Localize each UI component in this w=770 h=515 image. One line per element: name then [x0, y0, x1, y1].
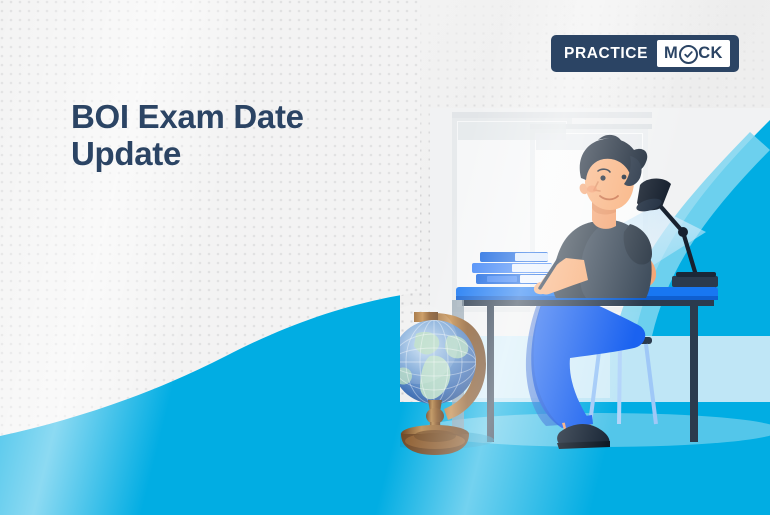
- logo-letters-ck: CK: [698, 44, 723, 63]
- device-on-desk: [672, 272, 718, 287]
- brand-logo[interactable]: PRACTICE M CK: [551, 35, 739, 72]
- student-eye-2: [622, 175, 627, 180]
- desk-leg-left: [487, 300, 494, 442]
- globe-knob: [426, 408, 444, 424]
- page-title: BOI Exam Date Update: [71, 99, 401, 173]
- student-eye: [600, 175, 605, 180]
- logo-word-practice: PRACTICE: [560, 45, 657, 63]
- logo-word-mock: M CK: [664, 44, 723, 63]
- globe-base-inner: [414, 430, 456, 442]
- check-in-circle-icon: [679, 45, 698, 64]
- illustration-student-at-desk: [0, 0, 770, 515]
- desk-stretcher: [462, 300, 714, 306]
- globe-sheen: [378, 304, 458, 384]
- logo-letter-m: M: [664, 44, 678, 63]
- student-cheek: [587, 186, 597, 193]
- book-stack: [472, 252, 552, 284]
- banner-root: BOI Exam Date Update PRACTICE M CK: [0, 0, 770, 515]
- lamp-joint: [678, 227, 688, 237]
- logo-badge: M CK: [657, 40, 730, 67]
- desk-leg-right: [690, 300, 698, 442]
